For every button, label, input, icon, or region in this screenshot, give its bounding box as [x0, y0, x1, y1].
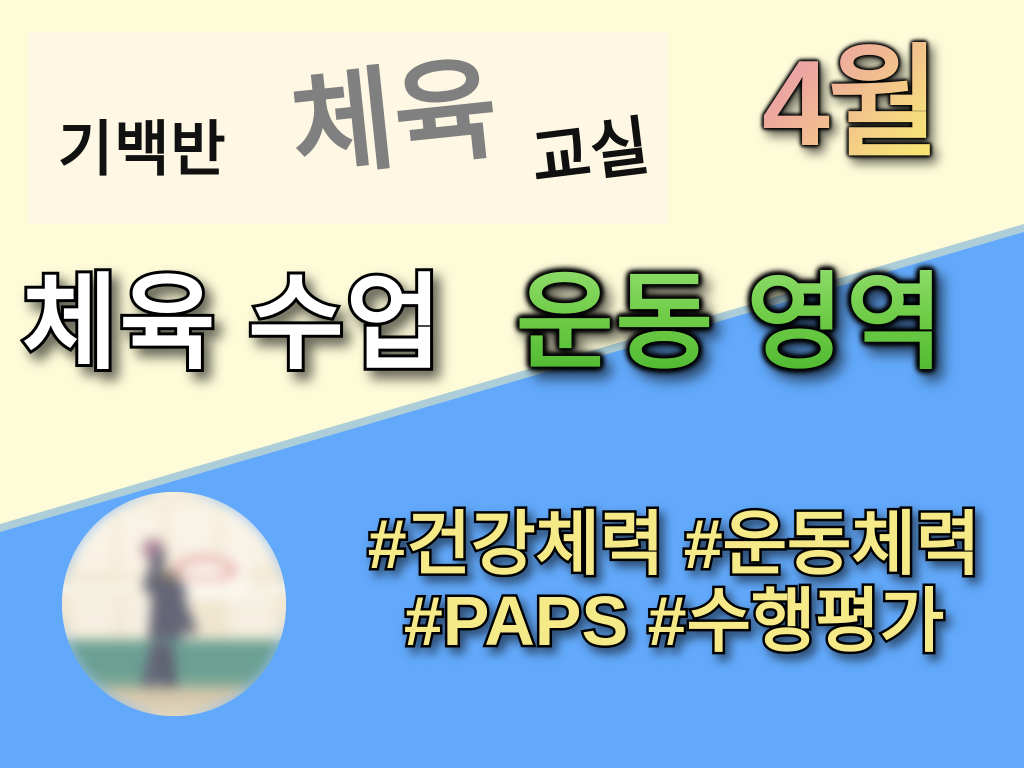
subject-title-large: 체육: [286, 52, 503, 185]
poster-canvas: 기백반 체육 교실 4월 체육 수업 운동 영역 #건강체력 #운동체력: [0, 0, 1024, 768]
headline-left: 체육 수업: [22, 272, 444, 376]
headline-right: 운동 영역: [516, 270, 946, 376]
photo-color-wash: [62, 492, 286, 716]
hashtag-line-1: #건강체력 #운동체력: [338, 506, 1010, 583]
header-banner-box: 기백반 체육 교실: [28, 32, 668, 224]
class-label: 기백반: [58, 120, 227, 180]
subject-title-suffix: 교실: [528, 114, 653, 192]
basketball-photo: [62, 492, 286, 716]
hashtag-line-2: #PAPS #수행평가: [338, 583, 1010, 660]
hashtag-block: #건강체력 #운동체력 #PAPS #수행평가: [338, 506, 1010, 660]
month-badge: 4월: [762, 42, 938, 164]
